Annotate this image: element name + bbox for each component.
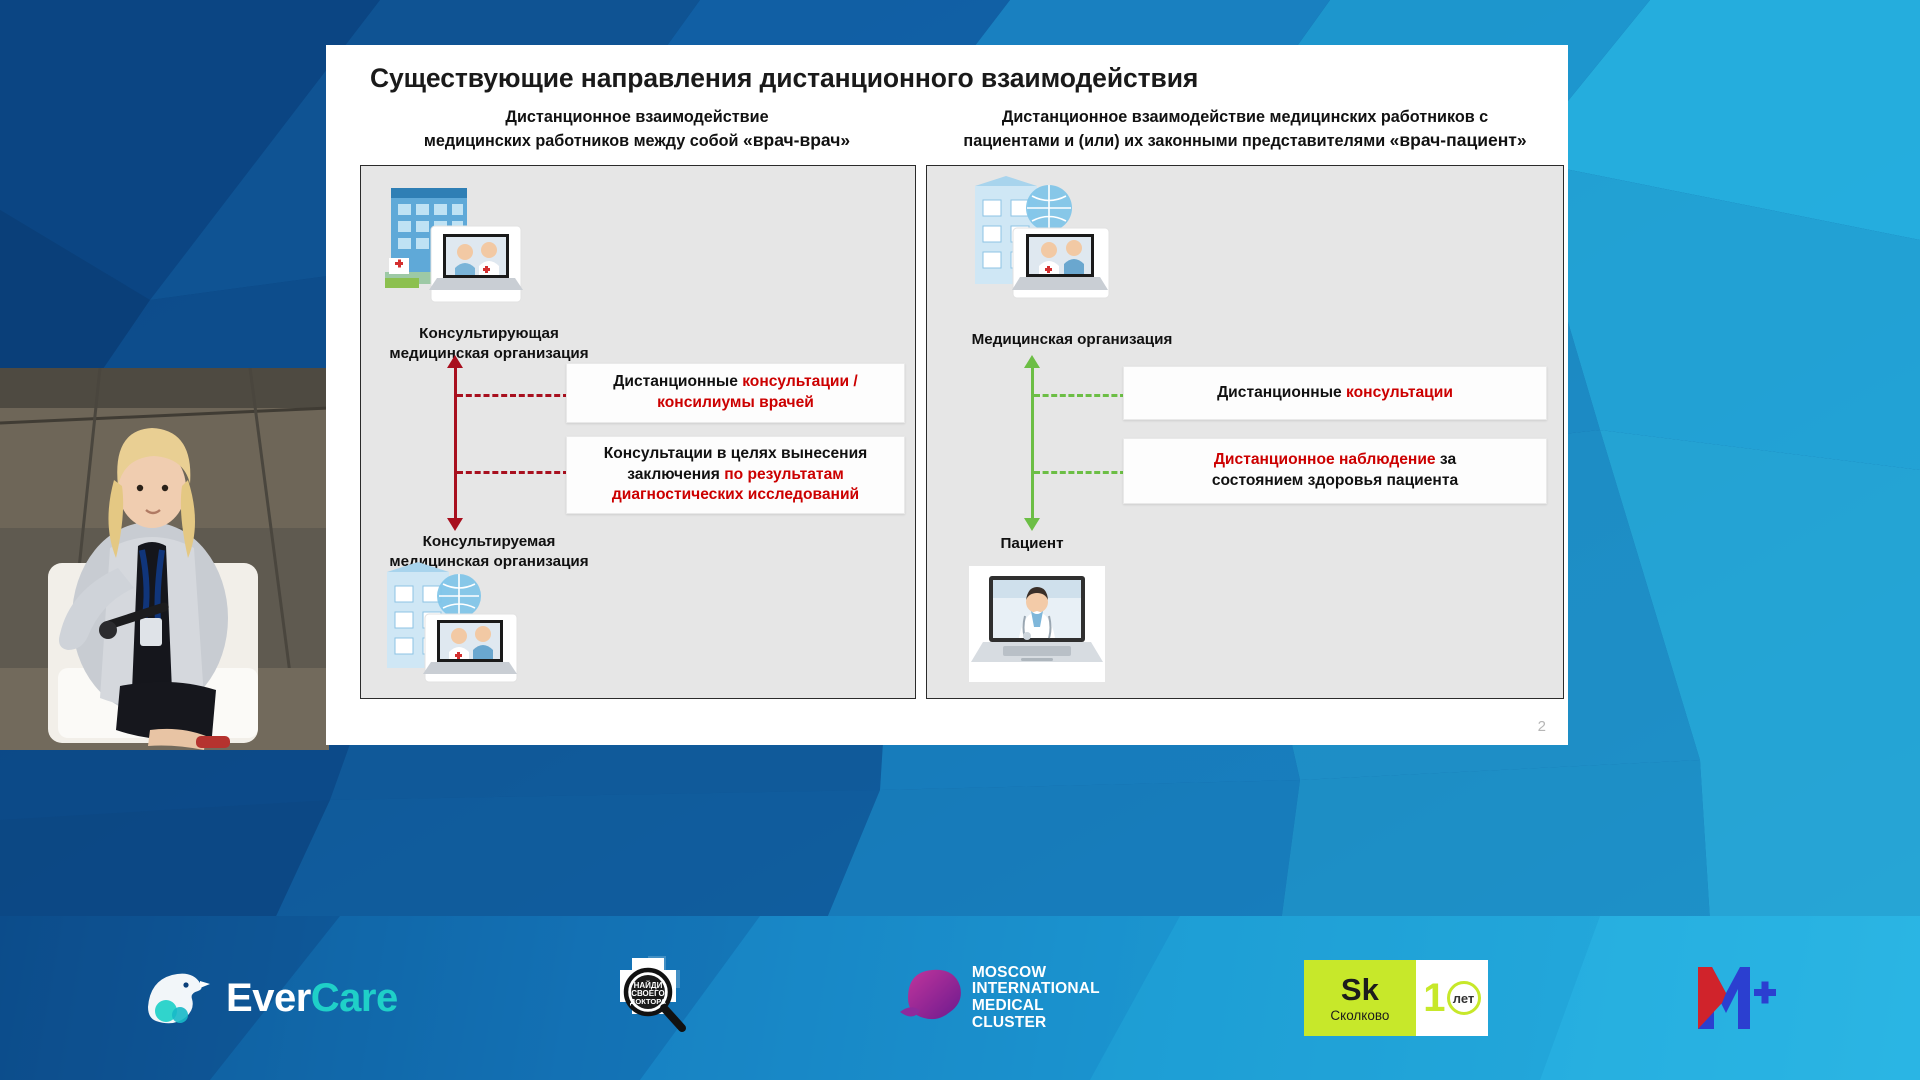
sponsor-row: EverCare НАЙДИ СВОЕГО ДОКТОРА — [0, 916, 1920, 1080]
clinic-building-and-laptop-consult-illustration — [385, 174, 523, 314]
skolkovo-name: Сколково — [1330, 1008, 1389, 1023]
right-connector-vertical-line — [1031, 366, 1034, 522]
mimc-line2: INTERNATIONAL — [972, 981, 1100, 998]
doctor-on-laptop-screen-illustration — [969, 566, 1105, 682]
right-column-heading: Дистанционное взаимодействие медицинских… — [926, 107, 1564, 152]
left-card2-plain1: Консультации в целях вынесения — [604, 445, 868, 462]
left-card1-red2: консилиумы врачей — [657, 394, 814, 411]
evercare-care: Care — [311, 976, 398, 1020]
right-bottom-illustration — [969, 566, 1105, 682]
anniversary-number: 1 — [1423, 978, 1445, 1018]
mimc-line4: CLUSTER — [972, 1015, 1100, 1032]
right-connector-dash-1 — [1034, 394, 1126, 397]
left-column-heading: Дистанционное взаимодействие медицинских… — [348, 107, 926, 152]
right-card1-red: консультации — [1346, 384, 1453, 401]
left-top-illustration — [385, 174, 523, 314]
left-diagram-panel: Консультирующая медицинская организация … — [360, 165, 916, 699]
left-card2-red2: диагностических исследований — [612, 486, 859, 503]
right-node-top-label: Медицинская организация — [957, 330, 1187, 350]
left-info-card-2: Консультации в целях вынесения заключени… — [566, 436, 905, 514]
bird-logo-mark — [142, 967, 216, 1029]
right-connector-arrowhead-up — [1024, 355, 1040, 368]
right-info-card-1: Дистанционные консультации — [1123, 366, 1547, 420]
left-node-top-label: Консультирующая медицинская организация — [389, 324, 589, 364]
evercare-wordmark: EverCare — [226, 976, 398, 1021]
mimc-line3: MEDICAL — [972, 998, 1100, 1015]
right-card2-plain1: за — [1436, 451, 1457, 468]
left-connector-vertical-line — [454, 366, 457, 522]
left-card1-red1: консультации / — [742, 373, 858, 390]
right-heading-line2: пациентами и (или) их законными представ… — [928, 129, 1562, 153]
left-card1-plain: Дистанционные — [613, 373, 742, 390]
left-bottom-illustration — [383, 562, 525, 684]
left-node-bottom-line1: Консультируемая — [389, 532, 589, 552]
right-top-illustration — [969, 176, 1115, 300]
mimc-wordmark: MOSCOW INTERNATIONAL MEDICAL CLUSTER — [972, 965, 1100, 1032]
right-diagram-panel: Медицинская организация Дистанционные ко… — [926, 165, 1564, 699]
left-node-top-line1: Консультирующая — [389, 324, 589, 344]
magnifier-medical-cross-stamp-logo-icon: НАЙДИ СВОЕГО ДОКТОРА — [602, 952, 694, 1044]
speaker-video-feed — [0, 368, 329, 750]
left-info-card-1: Дистанционные консультации / консилиумы … — [566, 363, 905, 423]
left-heading-line1: Дистанционное взаимодействие — [350, 107, 924, 129]
left-heading-pair-label: «врач-врач» — [743, 130, 850, 150]
left-connector-dash-1 — [457, 394, 569, 397]
logo-evercare[interactable]: EverCare — [142, 967, 398, 1029]
logo-m-plus[interactable] — [1692, 959, 1778, 1037]
right-heading-pair-label: «врач-пациент» — [1390, 130, 1527, 150]
presentation-slide: Существующие направления дистанционного … — [326, 45, 1568, 745]
bird-logo-icon — [142, 967, 216, 1029]
slide-page-number: 2 — [1538, 718, 1546, 735]
mimc-line1: MOSCOW — [972, 965, 1100, 982]
right-info-card-2: Дистанционное наблюдение за состоянием з… — [1123, 438, 1547, 504]
right-heading-line1: Дистанционное взаимодействие медицинских… — [928, 107, 1562, 129]
left-card2-red1: по результатам — [724, 466, 844, 483]
sponsor-logo-band: EverCare НАЙДИ СВОЕГО ДОКТОРА — [0, 916, 1920, 1080]
logo-skolkovo[interactable]: Sk Сколково 1 лет — [1304, 960, 1488, 1036]
left-heading-line2-plain: медицинских работников между собой — [424, 132, 743, 150]
right-card2-plain2: состоянием здоровья пациента — [1212, 472, 1458, 489]
left-connector-arrowhead-down — [447, 518, 463, 531]
evercare-ever: Ever — [226, 976, 311, 1020]
skolkovo-sk: Sk — [1341, 974, 1379, 1005]
purple-blob-icon — [898, 966, 964, 1030]
right-card2-red: Дистанционное наблюдение — [1214, 451, 1436, 468]
left-heading-line2: медицинских работников между собой «врач… — [350, 129, 924, 153]
logo-moscow-international-medical-cluster[interactable]: MOSCOW INTERNATIONAL MEDICAL CLUSTER — [898, 965, 1100, 1032]
column-doctor-to-doctor: Дистанционное взаимодействие медицинских… — [348, 107, 926, 152]
right-connector-arrowhead-down — [1024, 518, 1040, 531]
skolkovo-green-block: Sk Сколково — [1304, 960, 1416, 1036]
left-connector-dash-2 — [457, 471, 569, 474]
left-connector-arrowhead-up — [447, 355, 463, 368]
anniversary-ring: лет — [1447, 981, 1481, 1015]
clinic-building-globe-and-laptop-consult-illustration — [383, 562, 525, 684]
m-plus-logo-icon — [1692, 959, 1778, 1037]
anniversary-word: лет — [1453, 991, 1475, 1006]
clinic-building-globe-and-laptop-consult-illustration — [969, 176, 1115, 300]
left-card2-plain2: заключения — [627, 466, 724, 483]
right-connector-dash-2 — [1034, 471, 1126, 474]
left-node-top-line2: медицинская организация — [389, 344, 589, 364]
column-doctor-to-patient: Дистанционное взаимодействие медицинских… — [926, 107, 1564, 152]
svg-text:ДОКТОРА: ДОКТОРА — [630, 997, 667, 1006]
slide-title: Существующие направления дистанционного … — [370, 63, 1198, 94]
speaker-video-frame — [0, 368, 329, 750]
purple-blob-mark — [898, 966, 964, 1030]
right-card1-plain: Дистанционные — [1217, 384, 1346, 401]
right-heading-line2-plain: пациентами и (или) их законными представ… — [963, 132, 1389, 150]
skolkovo-anniversary-block: 1 лет — [1416, 960, 1488, 1036]
right-node-bottom-label: Пациент — [957, 534, 1107, 554]
logo-find-your-doctor[interactable]: НАЙДИ СВОЕГО ДОКТОРА — [602, 952, 694, 1044]
